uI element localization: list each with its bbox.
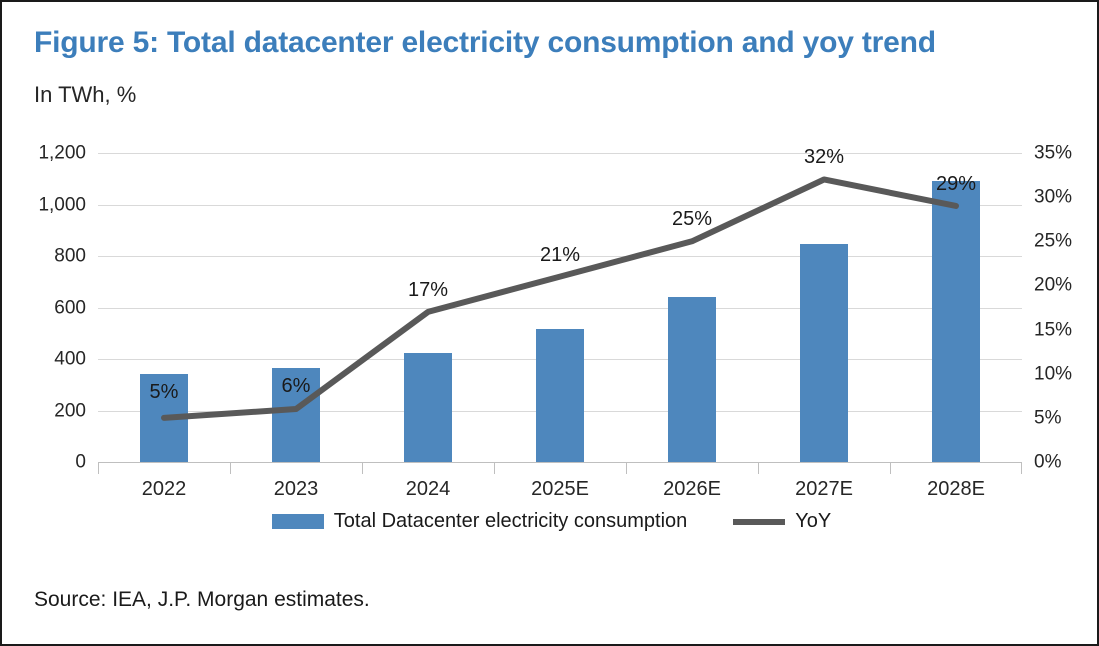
- bar-2025E[interactable]: [536, 329, 584, 462]
- axis-tick: [362, 462, 363, 474]
- category-label-2025E: 2025E: [494, 478, 626, 501]
- legend-label: Total Datacenter electricity consumption: [334, 510, 688, 533]
- bar-2026E[interactable]: [668, 297, 716, 462]
- source-note: Source: IEA, J.P. Morgan estimates.: [34, 588, 370, 612]
- bar-slot: [494, 153, 626, 462]
- category-label-2024: 2024: [362, 478, 494, 501]
- category-axis: 2022202320242025E2026E2027E2028E: [98, 462, 1022, 508]
- right-axis-tick-label: 25%: [1034, 232, 1072, 251]
- right-axis-tick-label: 5%: [1034, 408, 1061, 427]
- right-axis-tick-label: 15%: [1034, 320, 1072, 339]
- yoy-label-2028E: 29%: [936, 173, 976, 196]
- bar-slot: [890, 153, 1022, 462]
- legend-item[interactable]: YoY: [733, 510, 831, 533]
- axis-tick: [494, 462, 495, 474]
- category-cell: 2023: [230, 462, 362, 508]
- axis-tick: [98, 462, 99, 474]
- plot-area: 5%6%17%21%25%32%29%: [98, 153, 1022, 462]
- right-axis: 0%5%10%15%20%25%30%35%: [1034, 153, 1094, 462]
- bar-2027E[interactable]: [800, 244, 848, 462]
- yoy-label-2022: 5%: [150, 381, 179, 404]
- yoy-label-2026E: 25%: [672, 208, 712, 231]
- bar-slot: [758, 153, 890, 462]
- left-axis-tick-label: 800: [54, 247, 86, 266]
- bar-slot: [362, 153, 494, 462]
- axis-tick: [890, 462, 891, 474]
- axis-tick: [758, 462, 759, 474]
- category-cell: 2028E: [890, 462, 1022, 508]
- category-cell: 2026E: [626, 462, 758, 508]
- category-cell: 2022: [98, 462, 230, 508]
- yoy-label-2024: 17%: [408, 279, 448, 302]
- bar-slot: [230, 153, 362, 462]
- yoy-label-2027E: 32%: [804, 146, 844, 169]
- legend-line-swatch-icon: [733, 519, 785, 525]
- left-axis-tick-label: 0: [75, 453, 86, 472]
- bar-slot: [626, 153, 758, 462]
- right-axis-tick-label: 0%: [1034, 453, 1061, 472]
- category-cell: 2025E: [494, 462, 626, 508]
- legend-item[interactable]: Total Datacenter electricity consumption: [272, 510, 688, 533]
- category-label-2028E: 2028E: [890, 478, 1022, 501]
- figure-container: Figure 5: Total datacenter electricity c…: [0, 0, 1099, 646]
- bar-slot: [98, 153, 230, 462]
- left-axis-tick-label: 600: [54, 298, 86, 317]
- category-label-2026E: 2026E: [626, 478, 758, 501]
- bar-2028E[interactable]: [932, 181, 980, 462]
- category-label-2027E: 2027E: [758, 478, 890, 501]
- left-axis-tick-label: 400: [54, 350, 86, 369]
- axis-tick-end: [1021, 462, 1022, 474]
- left-axis-tick-label: 1,200: [38, 144, 86, 163]
- category-label-2023: 2023: [230, 478, 362, 501]
- right-axis-tick-label: 10%: [1034, 364, 1072, 383]
- left-axis-tick-label: 1,000: [38, 195, 86, 214]
- right-axis-tick-label: 30%: [1034, 188, 1072, 207]
- legend: Total Datacenter electricity consumption…: [2, 510, 1099, 533]
- axis-tick: [626, 462, 627, 474]
- bar-series: [98, 153, 1022, 462]
- right-axis-tick-label: 20%: [1034, 276, 1072, 295]
- category-cell: 2027E: [758, 462, 890, 508]
- axis-tick: [230, 462, 231, 474]
- left-axis: 02004006008001,0001,200: [22, 153, 86, 462]
- legend-label: YoY: [795, 510, 831, 533]
- yoy-label-2025E: 21%: [540, 244, 580, 267]
- left-axis-tick-label: 200: [54, 401, 86, 420]
- figure-title: Figure 5: Total datacenter electricity c…: [34, 26, 1054, 60]
- category-label-2022: 2022: [98, 478, 230, 501]
- yoy-label-2023: 6%: [282, 375, 311, 398]
- figure-subtitle: In TWh, %: [34, 82, 136, 108]
- bar-2024[interactable]: [404, 353, 452, 462]
- legend-bar-swatch-icon: [272, 514, 324, 529]
- category-cell: 2024: [362, 462, 494, 508]
- right-axis-tick-label: 35%: [1034, 144, 1072, 163]
